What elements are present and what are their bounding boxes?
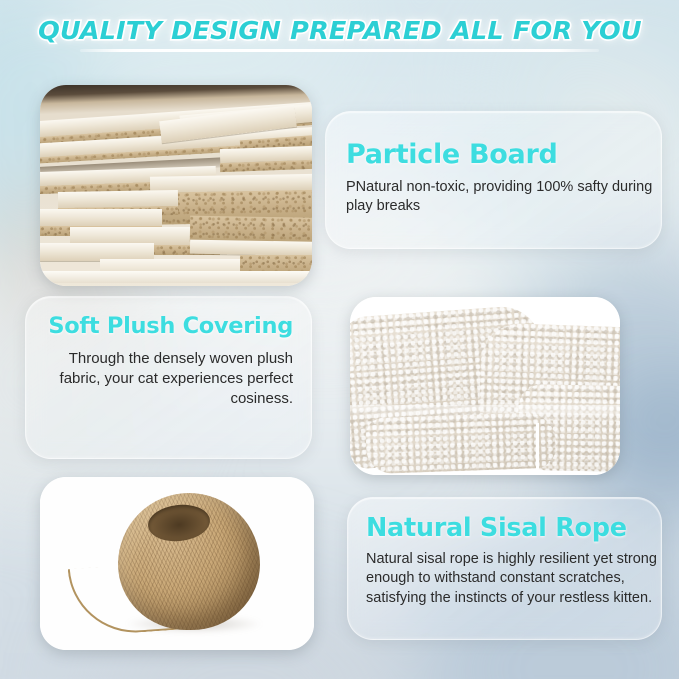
sisal-rope-description: Natural sisal rope is highly resilient y… [366, 550, 661, 608]
soft-plush-description: Through the densely woven plush fabric, … [26, 349, 293, 409]
title-underline [80, 49, 599, 52]
sisal-rope-panel: Natural Sisal Rope Natural sisal rope is… [347, 497, 662, 640]
particle-board-photo [40, 85, 312, 286]
particle-board-title: Particle Board [346, 139, 661, 170]
soft-plush-title: Soft Plush Covering [26, 313, 293, 339]
particle-board-description: PNatural non-toxic, providing 100% safty… [346, 178, 661, 217]
soft-plush-photo [350, 297, 620, 475]
header: QUALITY DESIGN PREPARED ALL FOR YOU [0, 16, 679, 52]
page-title: QUALITY DESIGN PREPARED ALL FOR YOU [38, 16, 642, 45]
sisal-rope-photo [40, 477, 314, 650]
soft-plush-panel: Soft Plush Covering Through the densely … [25, 296, 312, 459]
particle-board-panel: Particle Board PNatural non-toxic, provi… [325, 111, 662, 249]
sisal-rope-title: Natural Sisal Rope [366, 513, 661, 543]
